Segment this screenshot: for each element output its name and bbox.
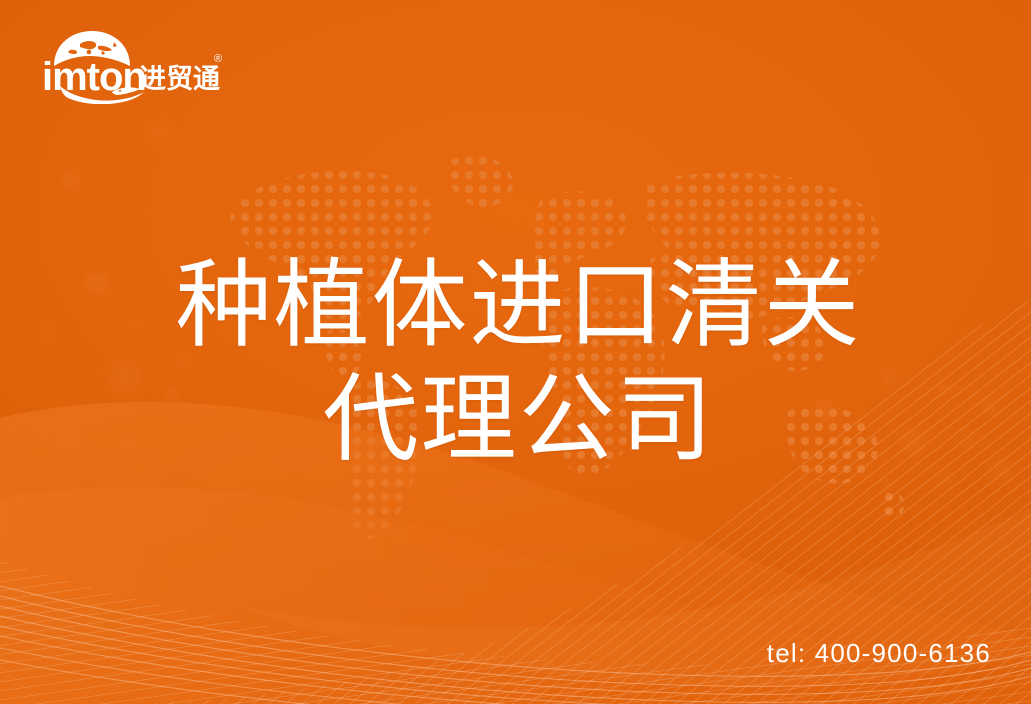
headline-line-1: 种植体进口清关 (0, 249, 1031, 362)
logo-chinese-name: 进贸通 (139, 64, 220, 95)
bokeh-circle (882, 478, 892, 488)
page-title: 种植体进口清关 代理公司 (0, 249, 1031, 476)
hatch-line-pattern (0, 540, 1031, 704)
logo-wordmark: imton (42, 55, 146, 99)
wave-band (0, 487, 1031, 704)
company-logo[interactable]: imton 进贸通 ® (34, 26, 234, 104)
contact-telephone: tel: 400-900-6136 (767, 638, 991, 669)
bokeh-circle (146, 118, 174, 146)
headline-line-2: 代理公司 (0, 363, 1031, 476)
bokeh-circle (60, 170, 82, 192)
trademark-symbol: ® (214, 53, 222, 65)
promotional-banner: imton 进贸通 ® 种植体进口清关 代理公司 tel: 400-900-61… (0, 0, 1031, 704)
